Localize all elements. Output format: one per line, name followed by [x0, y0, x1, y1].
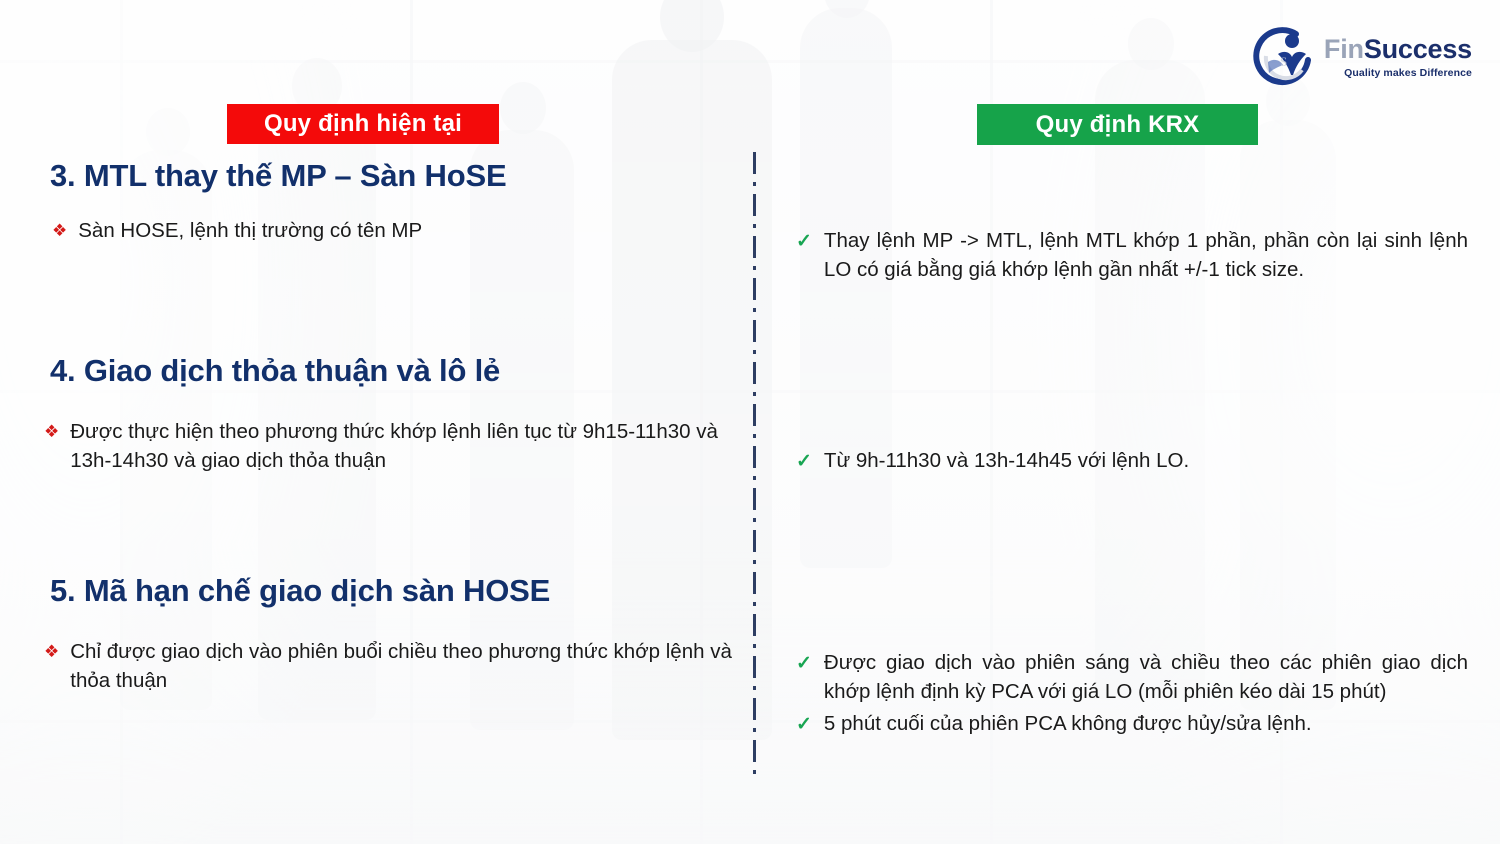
check-item: ✓ Thay lệnh MP -> MTL, lệnh MTL khớp 1 p… — [796, 226, 1468, 284]
bullet-text: Sàn HOSE, lệnh thị trường có tên MP — [78, 216, 422, 245]
check-item: ✓ Từ 9h-11h30 và 13h-14h45 với lệnh LO. — [796, 446, 1468, 475]
column-divider — [753, 152, 756, 777]
check-bullet-icon: ✓ — [796, 232, 812, 251]
section-heading-3: 3. MTL thay thế MP – Sàn HoSE — [50, 158, 734, 194]
bullet-item: ❖ Chỉ được giao dịch vào phiên buổi chiề… — [44, 637, 734, 695]
krx-block-4: ✓ Từ 9h-11h30 và 13h-14h45 với lệnh LO. — [796, 446, 1468, 475]
section-block-3: 3. MTL thay thế MP – Sàn HoSE ❖ Sàn HOSE… — [44, 158, 734, 245]
check-item: ✓ Được giao dịch vào phiên sáng và chiều… — [796, 648, 1468, 706]
bullet-text: Chỉ được giao dịch vào phiên buổi chiều … — [70, 637, 734, 695]
bullet-text: Được thực hiện theo phương thức khớp lện… — [70, 417, 734, 475]
krx-block-3: ✓ Thay lệnh MP -> MTL, lệnh MTL khớp 1 p… — [796, 226, 1468, 284]
section-block-4: 4. Giao dịch thỏa thuận và lô lẻ ❖ Được … — [44, 353, 734, 475]
bullet-item: ❖ Được thực hiện theo phương thức khớp l… — [44, 417, 734, 475]
logo-fin-text: Fin — [1324, 34, 1364, 64]
diamond-bullet-icon: ❖ — [44, 423, 59, 440]
krx-block-5: ✓ Được giao dịch vào phiên sáng và chiều… — [796, 648, 1468, 738]
brand-logo: S FinSuccess Quality makes Difference — [1252, 26, 1472, 88]
badge-krx-regulation: Quy định KRX — [977, 104, 1258, 145]
bullet-item: ❖ Sàn HOSE, lệnh thị trường có tên MP — [52, 216, 734, 245]
check-text: Thay lệnh MP -> MTL, lệnh MTL khớp 1 phầ… — [824, 226, 1468, 284]
check-bullet-icon: ✓ — [796, 715, 812, 734]
diamond-bullet-icon: ❖ — [44, 643, 59, 660]
svg-text:S: S — [1280, 54, 1287, 69]
section-block-5: 5. Mã hạn chế giao dịch sàn HOSE ❖ Chỉ đ… — [44, 573, 734, 695]
badge-current-regulation: Quy định hiện tại — [227, 104, 499, 144]
check-bullet-icon: ✓ — [796, 452, 812, 471]
check-text: 5 phút cuối của phiên PCA không được hủy… — [824, 709, 1312, 738]
section-heading-4: 4. Giao dịch thỏa thuận và lô lẻ — [50, 353, 734, 389]
check-bullet-icon: ✓ — [796, 654, 812, 673]
check-text: Được giao dịch vào phiên sáng và chiều t… — [824, 648, 1468, 706]
finsuccess-person-swoosh-logo: S — [1252, 26, 1316, 88]
logo-wordmark: FinSuccess Quality makes Difference — [1324, 36, 1472, 79]
section-heading-5: 5. Mã hạn chế giao dịch sàn HOSE — [50, 573, 734, 609]
check-item: ✓ 5 phút cuối của phiên PCA không được h… — [796, 709, 1468, 738]
logo-success-text: Success — [1364, 34, 1472, 64]
diamond-bullet-icon: ❖ — [52, 222, 67, 239]
check-text: Từ 9h-11h30 và 13h-14h45 với lệnh LO. — [824, 446, 1189, 475]
logo-tagline: Quality makes Difference — [1324, 68, 1472, 79]
